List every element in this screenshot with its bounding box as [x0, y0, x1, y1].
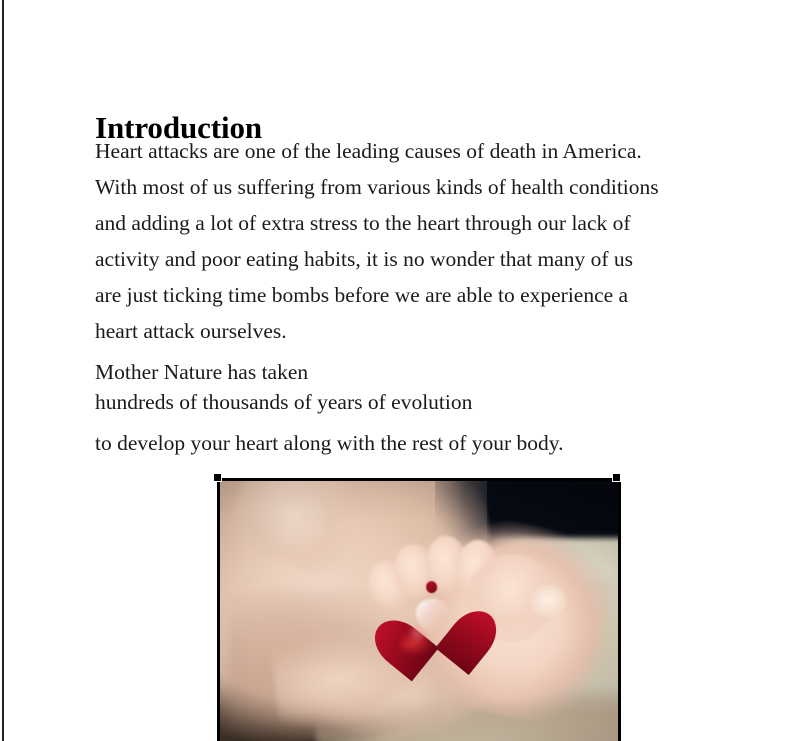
photo-red-heart [390, 583, 481, 664]
paragraph-2-line-3: to develop your heart along with the res… [95, 428, 735, 458]
paragraph-1-line-4: activity and poor eating habits, it is n… [95, 241, 735, 277]
selected-image[interactable] [217, 478, 621, 741]
selection-handle-top-left[interactable] [213, 473, 222, 482]
paragraph-1-line-1: Heart attacks are one of the leading cau… [95, 133, 735, 169]
paragraph-1-line-2: With most of us suffering from various k… [95, 169, 735, 205]
photo-baby-fingernail [530, 585, 566, 619]
paragraph-2: Mother Nature has taken hundreds of thou… [95, 357, 735, 458]
selection-handle-top-right[interactable] [612, 473, 621, 482]
document-body: Introduction Heart attacks are one of th… [0, 0, 793, 741]
paragraph-2-line-2: hundreds of thousands of years of evolut… [95, 387, 735, 417]
paragraph-1-line-6: heart attack ourselves. [95, 313, 735, 349]
photo-hands-with-heart [220, 481, 618, 741]
paragraph-1-line-5: are just ticking time bombs before we ar… [95, 277, 735, 313]
paragraph-1-line-3: and adding a lot of extra stress to the … [95, 205, 735, 241]
paragraph-2-line-1: Mother Nature has taken [95, 357, 735, 387]
paragraph-1: Heart attacks are one of the leading cau… [95, 133, 735, 349]
